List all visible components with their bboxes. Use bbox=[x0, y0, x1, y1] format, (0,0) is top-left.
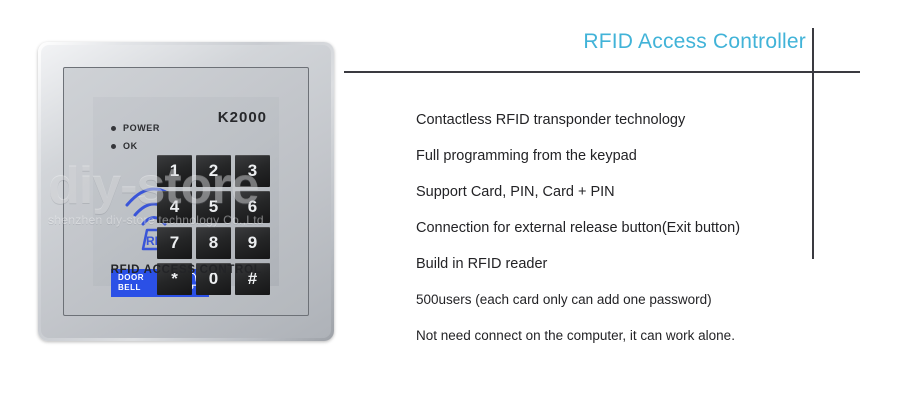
product-image: K2000 POWER OK bbox=[0, 0, 900, 400]
feature-item: Not need connect on the computer, it can… bbox=[416, 318, 836, 354]
keypad-key[interactable]: 4 bbox=[157, 191, 192, 223]
device-bezel: K2000 POWER OK bbox=[41, 45, 331, 338]
feature-item: Contactless RFID transponder technology bbox=[416, 102, 836, 138]
keypad-key[interactable]: 8 bbox=[196, 227, 231, 259]
keypad-key[interactable]: 2 bbox=[196, 155, 231, 187]
keypad-key[interactable]: 6 bbox=[235, 191, 270, 223]
page-title: RFID Access Controller bbox=[344, 30, 806, 54]
power-indicator: POWER bbox=[111, 123, 160, 133]
keypad-key[interactable]: 7 bbox=[157, 227, 192, 259]
device-inner-ring: K2000 POWER OK bbox=[63, 67, 309, 316]
ok-indicator-label: OK bbox=[123, 141, 138, 151]
device-model-label: K2000 bbox=[218, 109, 267, 126]
rfid-access-controller-device: K2000 POWER OK bbox=[38, 42, 334, 341]
power-indicator-label: POWER bbox=[123, 123, 160, 133]
device-caption: RFID ACCESS CONTROL bbox=[93, 264, 279, 276]
feature-item: Support Card, PIN, Card + PIN bbox=[416, 174, 836, 210]
keypad-key[interactable]: 1 bbox=[157, 155, 192, 187]
feature-item: Build in RFID reader bbox=[416, 246, 836, 282]
keypad-key[interactable]: 5 bbox=[196, 191, 231, 223]
feature-item: Full programming from the keypad bbox=[416, 138, 836, 174]
feature-item: Connection for external release button(E… bbox=[416, 210, 836, 246]
horizontal-divider bbox=[344, 71, 860, 73]
ok-indicator: OK bbox=[111, 141, 138, 151]
door-bell-label-line2: BELL bbox=[118, 283, 144, 293]
feature-list: Contactless RFID transponder technology … bbox=[416, 102, 836, 354]
keypad-key[interactable]: 9 bbox=[235, 227, 270, 259]
keypad-key[interactable]: 3 bbox=[235, 155, 270, 187]
power-led-icon bbox=[111, 126, 116, 131]
door-bell-label: DOOR BELL bbox=[118, 273, 144, 293]
feature-item: 500users (each card only can add one pas… bbox=[416, 282, 836, 318]
device-front-panel: K2000 POWER OK bbox=[93, 97, 279, 286]
ok-led-icon bbox=[111, 144, 116, 149]
